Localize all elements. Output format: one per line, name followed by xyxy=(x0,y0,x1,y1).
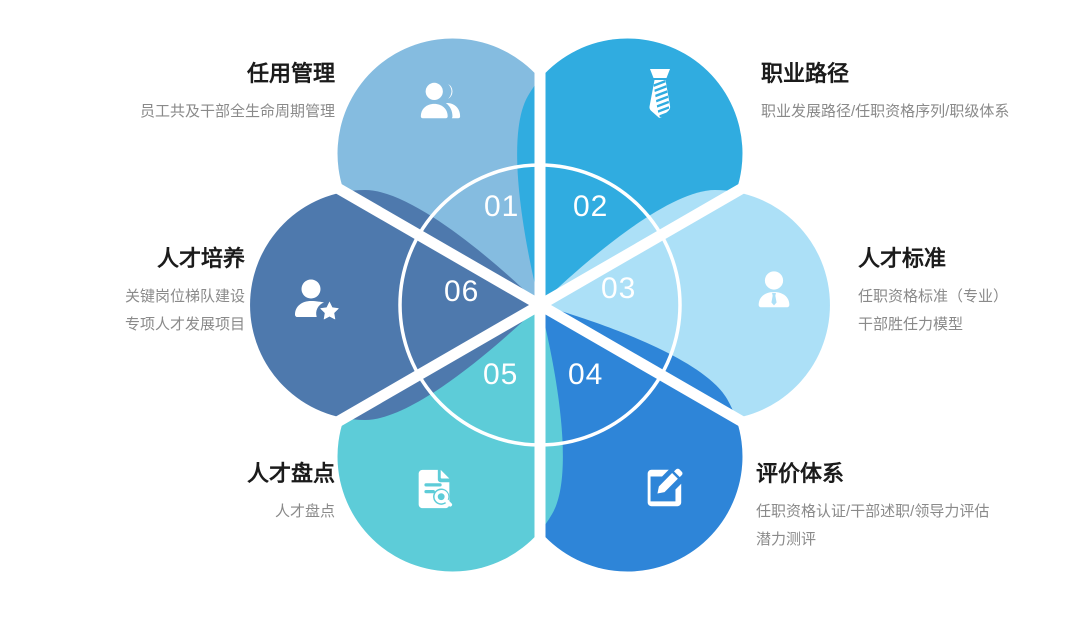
label-sub-01-0: 员工共及干部全生命周期管理 xyxy=(30,98,335,127)
label-title-03: 人才标准 xyxy=(858,245,1081,273)
label-title-02: 职业路径 xyxy=(761,60,1081,88)
label-sub-03-0: 任职资格标准（专业） xyxy=(858,283,1081,312)
label-block-01: 任用管理 员工共及干部全生命周期管理 xyxy=(30,60,335,126)
label-sub-05-0: 人才盘点 xyxy=(35,498,335,527)
label-sub-06-1: 专项人才发展项目 xyxy=(30,311,245,340)
label-block-05: 人才盘点 人才盘点 xyxy=(35,460,335,526)
label-sub-02-0: 职业发展路径/任职资格序列/职级体系 xyxy=(761,98,1081,127)
label-title-01: 任用管理 xyxy=(30,60,335,88)
label-sub-04-1: 潜力测评 xyxy=(756,526,1081,555)
label-sub-03-1: 干部胜任力模型 xyxy=(858,311,1081,340)
label-block-03: 人才标准 任职资格标准（专业） 干部胜任力模型 xyxy=(858,245,1081,340)
label-sub-04-0: 任职资格认证/干部述职/领导力评估 xyxy=(756,498,1081,527)
label-block-04: 评价体系 任职资格认证/干部述职/领导力评估 潜力测评 xyxy=(756,460,1081,555)
label-title-04: 评价体系 xyxy=(756,460,1081,488)
infographic-canvas: 01 02 03 04 05 06 xyxy=(0,0,1081,626)
label-block-06: 人才培养 关键岗位梯队建设 专项人才发展项目 xyxy=(30,245,245,340)
label-title-05: 人才盘点 xyxy=(35,460,335,488)
label-block-02: 职业路径 职业发展路径/任职资格序列/职级体系 xyxy=(761,60,1081,126)
label-sub-06-0: 关键岗位梯队建设 xyxy=(30,283,245,312)
label-title-06: 人才培养 xyxy=(30,245,245,273)
